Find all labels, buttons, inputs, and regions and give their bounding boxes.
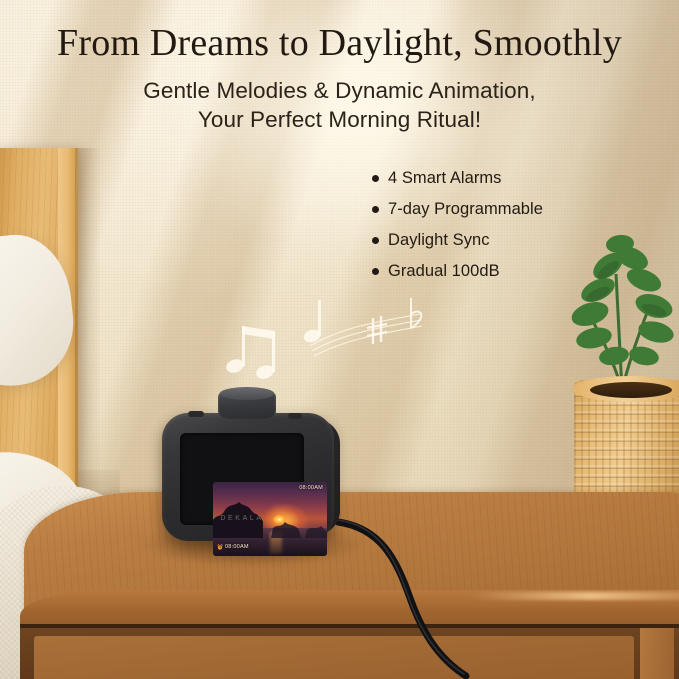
- subheading: Gentle Melodies & Dynamic Animation, You…: [0, 77, 679, 134]
- alarm-clock-device: 08:00AM 08:00AM DEKALA: [152, 389, 352, 557]
- bullet-dot-icon: [372, 237, 379, 244]
- list-item: 4 Smart Alarms: [372, 163, 622, 194]
- bullet-dot-icon: [372, 175, 379, 182]
- basket-inner-soil: [590, 382, 672, 398]
- screen-bezel: 08:00AM 08:00AM: [180, 433, 304, 525]
- subheading-line-2: Your Perfect Morning Ritual!: [0, 106, 679, 135]
- product-marketing-image: From Dreams to Daylight, Smoothly Gentle…: [0, 0, 679, 679]
- feature-label: Gradual 100dB: [388, 262, 500, 281]
- feature-label: 4 Smart Alarms: [388, 169, 501, 188]
- screen-alarm-indicator: 08:00AM: [217, 544, 249, 550]
- device-brand-label: DEKALA: [152, 515, 332, 522]
- bullet-dot-icon: [372, 268, 379, 275]
- feature-label: 7-day Programmable: [388, 200, 543, 219]
- music-notes-icon: [215, 288, 430, 388]
- page-title: From Dreams to Daylight, Smoothly: [0, 21, 679, 65]
- feature-label: Daylight Sync: [388, 231, 490, 250]
- screen-alarm-time: 08:00AM: [225, 544, 249, 550]
- bullet-dot-icon: [372, 206, 379, 213]
- plant: [556, 214, 679, 514]
- subheading-line-1: Gentle Melodies & Dynamic Animation,: [0, 77, 679, 106]
- screen-clock-time: 08:00AM: [299, 485, 323, 491]
- alarm-clock-icon: [217, 544, 223, 550]
- device-button-left[interactable]: [188, 411, 204, 417]
- device-button-right[interactable]: [288, 413, 302, 419]
- rotary-knob-top[interactable]: [220, 387, 274, 400]
